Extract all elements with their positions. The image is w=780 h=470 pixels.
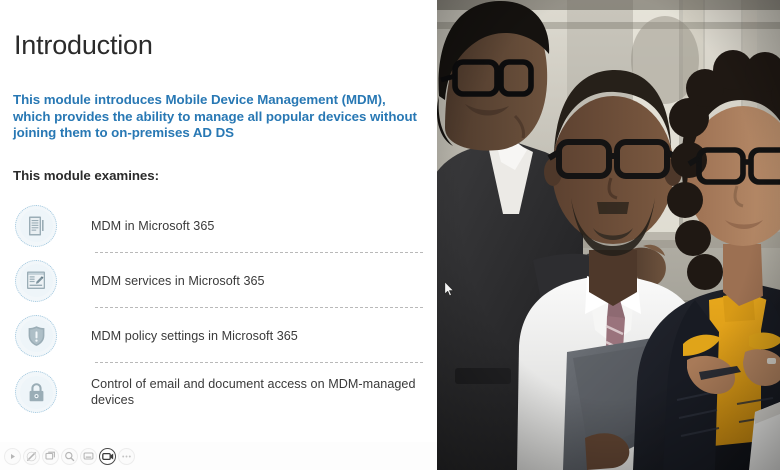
list-item-label: MDM policy settings in Microsoft 365 — [91, 328, 437, 344]
list-item-label: Control of email and document access on … — [91, 376, 437, 408]
magnifier-icon — [64, 451, 75, 462]
slide-photo — [437, 0, 780, 470]
presentation-toolbar[interactable] — [0, 442, 437, 470]
play-icon — [8, 452, 17, 461]
play-button[interactable] — [4, 448, 21, 465]
form-settings-icon — [14, 259, 58, 303]
list-item: MDM policy settings in Microsoft 365 — [0, 308, 437, 363]
list-item: MDM in Microsoft 365 — [0, 198, 437, 253]
slide-content-panel: Introduction This module introduces Mobi… — [0, 0, 437, 470]
video-button[interactable] — [99, 448, 116, 465]
list-item-label: MDM services in Microsoft 365 — [91, 273, 437, 289]
pen-icon — [26, 451, 37, 462]
ellipsis-icon — [121, 454, 132, 459]
screen-icon — [83, 451, 94, 461]
zoom-button[interactable] — [61, 448, 78, 465]
module-examines-label: This module examines: — [13, 167, 159, 184]
shield-alert-icon — [14, 314, 58, 358]
lead-paragraph: This module introduces Mobile Device Man… — [13, 92, 421, 142]
list-item: Control of email and document access on … — [0, 363, 437, 421]
bullet-list: MDM in Microsoft 365 — [0, 198, 437, 421]
padlock-icon — [14, 370, 58, 414]
list-item-label: MDM in Microsoft 365 — [91, 218, 437, 234]
slides-icon — [45, 451, 56, 461]
all-slides-button[interactable] — [42, 448, 59, 465]
presentation-slide: Introduction This module introduces Mobi… — [0, 0, 780, 470]
blank-screen-button[interactable] — [80, 448, 97, 465]
video-camera-icon — [102, 452, 114, 461]
document-list-icon — [14, 204, 58, 248]
more-options-button[interactable] — [118, 448, 135, 465]
list-item: MDM services in Microsoft 365 — [0, 253, 437, 308]
pen-button[interactable] — [23, 448, 40, 465]
page-title: Introduction — [14, 29, 153, 61]
